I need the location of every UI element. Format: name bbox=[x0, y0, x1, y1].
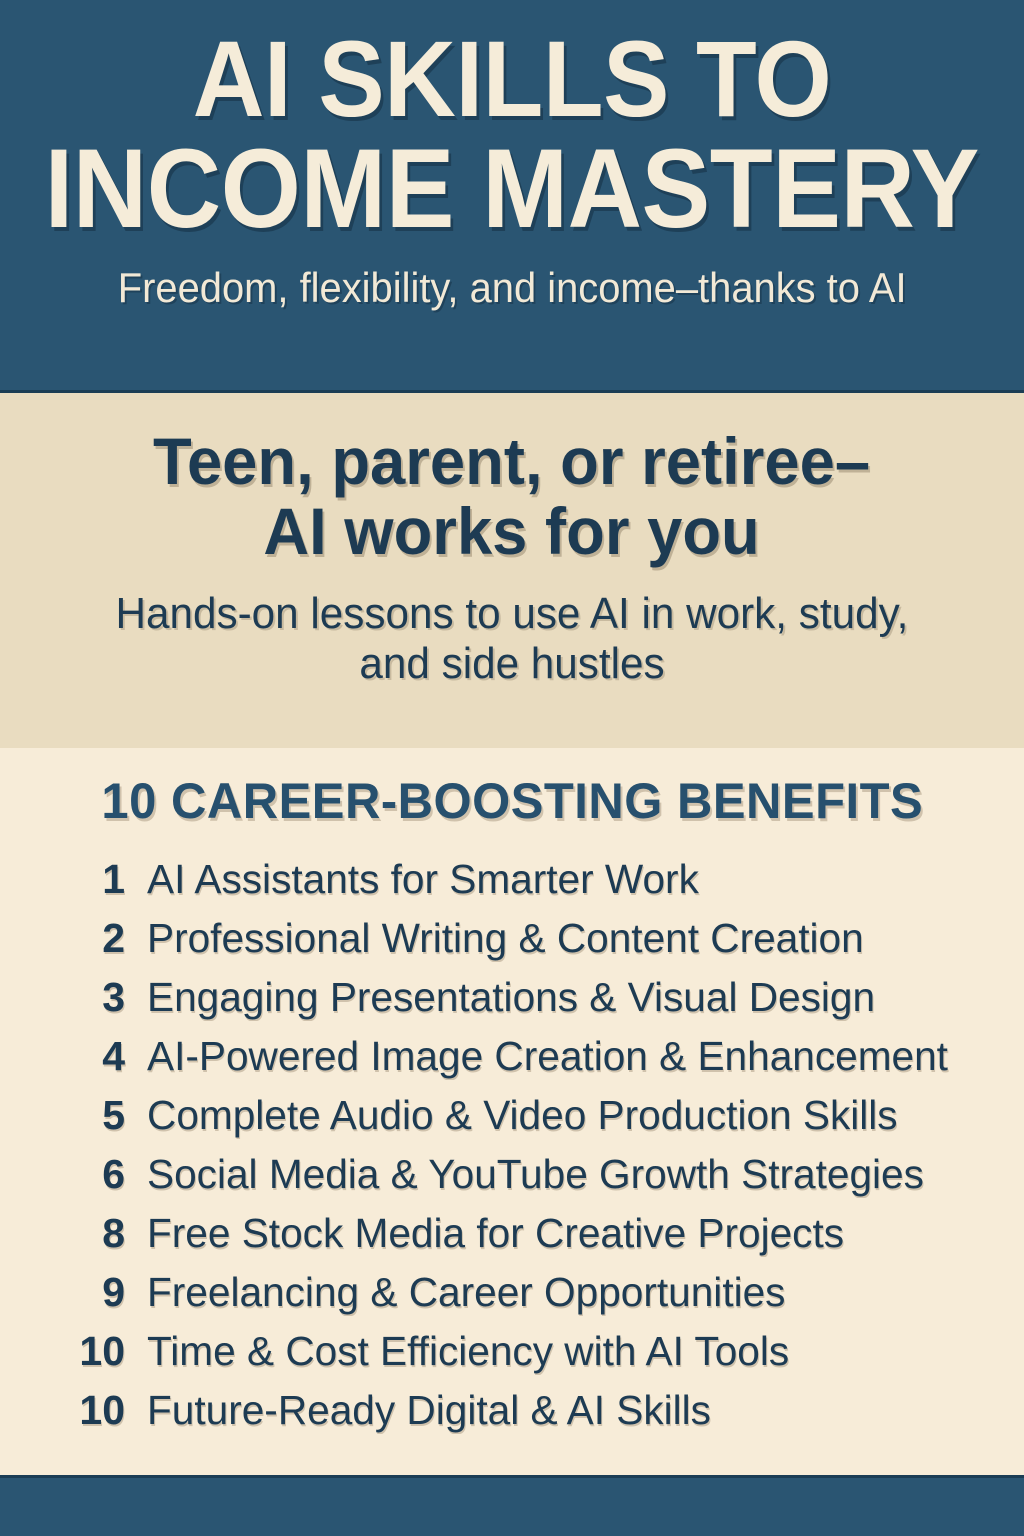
benefit-label: Future-Ready Digital & AI Skills bbox=[147, 1381, 711, 1440]
benefit-item: 2Professional Writing & Content Creation bbox=[0, 909, 1024, 968]
benefit-number: 8 bbox=[0, 1204, 125, 1263]
benefit-item: 10Future-Ready Digital & AI Skills bbox=[0, 1381, 1024, 1440]
benefit-number: 10 bbox=[0, 1322, 125, 1381]
poster-title-line-2: INCOME MASTERY bbox=[45, 134, 979, 244]
header-band: AI SKILLS TO INCOME MASTERY Freedom, fle… bbox=[0, 0, 1024, 393]
subheadline-band: Teen, parent, or retiree– AI works for y… bbox=[0, 393, 1024, 748]
subheadline-description-line-1: Hands-on lessons to use AI in work, stud… bbox=[116, 589, 909, 639]
subheadline-line-1: Teen, parent, or retiree– bbox=[153, 427, 870, 497]
benefit-item: 3Engaging Presentations & Visual Design bbox=[0, 968, 1024, 1027]
benefit-item: 8Free Stock Media for Creative Projects bbox=[0, 1204, 1024, 1263]
benefit-label: Professional Writing & Content Creation bbox=[147, 909, 864, 968]
benefits-heading: 10 CAREER-BOOSTING BENEFITS bbox=[101, 776, 923, 826]
benefit-item: 5Complete Audio & Video Production Skill… bbox=[0, 1086, 1024, 1145]
poster-title-line-1: AI SKILLS TO bbox=[193, 26, 832, 132]
benefit-label: Free Stock Media for Creative Projects bbox=[147, 1204, 844, 1263]
benefit-label: AI Assistants for Smarter Work bbox=[147, 850, 699, 909]
benefit-label: Engaging Presentations & Visual Design bbox=[147, 968, 875, 1027]
header-tagline: Freedom, flexibility, and income–thanks … bbox=[118, 266, 907, 310]
benefit-label: Time & Cost Efficiency with AI Tools bbox=[147, 1322, 789, 1381]
benefit-label: AI-Powered Image Creation & Enhancement bbox=[147, 1027, 948, 1086]
benefits-band: 10 CAREER-BOOSTING BENEFITS 1AI Assistan… bbox=[0, 748, 1024, 1475]
benefit-label: Social Media & YouTube Growth Strategies bbox=[147, 1145, 924, 1204]
subheadline-description-line-2: and side hustles bbox=[359, 639, 664, 689]
benefit-item: 10Time & Cost Efficiency with AI Tools bbox=[0, 1322, 1024, 1381]
benefit-number: 4 bbox=[0, 1027, 125, 1086]
benefit-number: 5 bbox=[0, 1086, 125, 1145]
benefit-item: 6Social Media & YouTube Growth Strategie… bbox=[0, 1145, 1024, 1204]
subheadline-line-2: AI works for you bbox=[264, 497, 760, 567]
benefit-item: 1AI Assistants for Smarter Work bbox=[0, 850, 1024, 909]
benefit-number: 3 bbox=[0, 968, 125, 1027]
benefit-number: 2 bbox=[0, 909, 125, 968]
infographic-poster: AI SKILLS TO INCOME MASTERY Freedom, fle… bbox=[0, 0, 1024, 1536]
benefit-number: 10 bbox=[0, 1381, 125, 1440]
benefit-label: Complete Audio & Video Production Skills bbox=[147, 1086, 898, 1145]
benefit-label: Freelancing & Career Opportunities bbox=[147, 1263, 785, 1322]
benefit-number: 9 bbox=[0, 1263, 125, 1322]
footer-bar bbox=[0, 1475, 1024, 1536]
benefit-number: 6 bbox=[0, 1145, 125, 1204]
benefit-item: 9Freelancing & Career Opportunities bbox=[0, 1263, 1024, 1322]
benefit-item: 4AI-Powered Image Creation & Enhancement bbox=[0, 1027, 1024, 1086]
benefits-list: 1AI Assistants for Smarter Work2Professi… bbox=[0, 850, 1024, 1440]
benefit-number: 1 bbox=[0, 850, 125, 909]
